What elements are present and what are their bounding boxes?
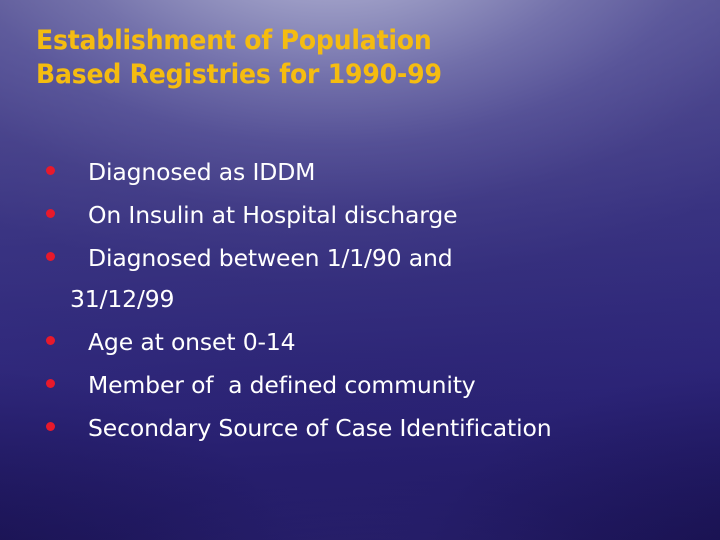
list-item-text: Diagnosed as IDDM [88,152,696,193]
list-item-text: Diagnosed between 1/1/90 and [88,238,696,279]
list-item: Diagnosed between 1/1/90 and 31/12/99 [36,238,696,320]
slide-bullet-list: Diagnosed as IDDM On Insulin at Hospital… [36,152,696,451]
slide-content: Establishment of Population Based Regist… [0,0,720,540]
bullet-marker-icon [46,209,55,218]
list-item: On Insulin at Hospital discharge [36,195,696,236]
list-item-text: Age at onset 0-14 [88,322,696,363]
list-item: Age at onset 0-14 [36,322,696,363]
title-line-2: Based Registries for 1990-99 [36,58,631,92]
list-item-text: Member of a defined community [88,365,696,406]
list-item: Diagnosed as IDDM [36,152,696,193]
list-item-text: On Insulin at Hospital discharge [88,195,696,236]
list-item: Secondary Source of Case Identification [36,408,696,449]
bullet-marker-icon [46,422,55,431]
list-item-text-continuation: 31/12/99 [70,279,696,320]
list-item-text: Secondary Source of Case Identification [88,408,696,449]
bullet-marker-icon [46,252,55,261]
title-line-1: Establishment of Population [36,24,631,58]
list-item: Member of a defined community [36,365,696,406]
bullet-marker-icon [46,336,55,345]
presentation-slide: Establishment of Population Based Regist… [0,0,720,540]
bullet-marker-icon [46,379,55,388]
bullet-marker-icon [46,166,55,175]
slide-title: Establishment of Population Based Regist… [36,24,676,92]
